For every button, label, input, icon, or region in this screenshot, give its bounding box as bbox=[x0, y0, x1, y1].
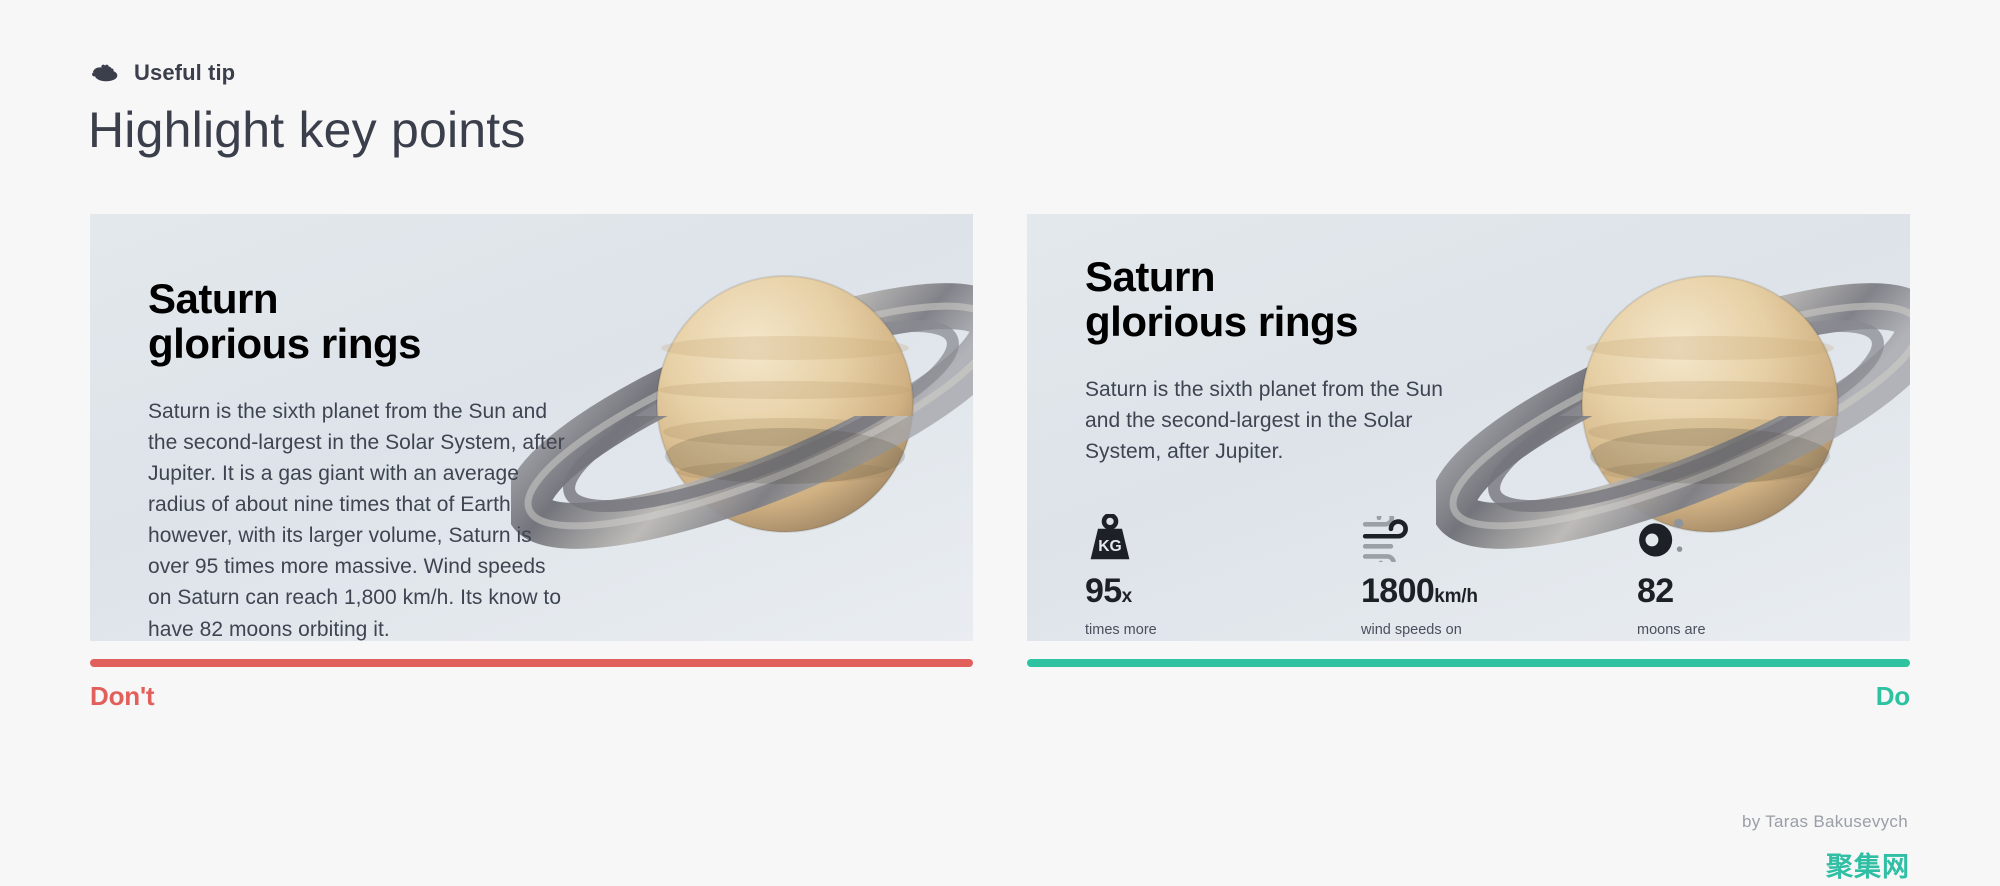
do-heading-line1: Saturn bbox=[1085, 253, 1215, 300]
saturn-illustration bbox=[511, 220, 973, 641]
svg-text:KG: KG bbox=[1098, 538, 1122, 555]
wind-icon bbox=[1361, 508, 1551, 562]
comparison-cards: Saturn glorious rings Saturn is the sixt… bbox=[90, 214, 1910, 712]
dont-verdict-label: Don't bbox=[90, 681, 973, 712]
stat-mass-unit: x bbox=[1122, 587, 1132, 606]
do-heading-line2: glorious rings bbox=[1085, 298, 1358, 345]
stat-mass-value-row: 95 x bbox=[1085, 574, 1275, 608]
stat-mass: KG 95 x times more massive than Earth. bbox=[1085, 508, 1275, 641]
stat-wind-value-row: 1800 km/h bbox=[1361, 574, 1551, 608]
stat-wind-value: 1800 bbox=[1361, 574, 1434, 608]
useful-tip-row: Useful tip bbox=[90, 60, 235, 86]
slide-root: Useful tip Highlight key points bbox=[0, 0, 2000, 886]
stat-moons-caption-line1: moons are bbox=[1637, 622, 1706, 638]
moon-orbit-icon bbox=[1637, 508, 1827, 562]
dont-column: Saturn glorious rings Saturn is the sixt… bbox=[90, 214, 973, 712]
weight-kg-icon: KG bbox=[1085, 508, 1275, 562]
stat-moons-caption: moons are orbiting Staturn bbox=[1637, 620, 1827, 641]
dont-underline-bar bbox=[90, 659, 973, 667]
stat-wind-caption-line1: wind speeds on bbox=[1361, 622, 1462, 638]
stats-row: KG 95 x times more massive than Earth. bbox=[1085, 508, 1827, 641]
do-column: Saturn glorious rings Saturn is the sixt… bbox=[1027, 214, 1910, 712]
do-underline-bar bbox=[1027, 659, 1910, 667]
do-verdict-label: Do bbox=[1027, 681, 1910, 712]
do-card-body: Saturn is the sixth planet from the Sun … bbox=[1085, 374, 1465, 467]
dont-card: Saturn glorious rings Saturn is the sixt… bbox=[90, 214, 973, 641]
dont-heading-line2: glorious rings bbox=[148, 320, 421, 367]
stat-mass-value: 95 bbox=[1085, 574, 1122, 608]
site-watermark: 聚集网 bbox=[1826, 845, 1910, 884]
pointing-hand-icon bbox=[90, 62, 120, 84]
stat-mass-caption: times more massive than Earth. bbox=[1085, 620, 1275, 641]
stat-moons: 82 moons are orbiting Staturn bbox=[1637, 508, 1827, 641]
do-card: Saturn glorious rings Saturn is the sixt… bbox=[1027, 214, 1910, 641]
dont-card-heading: Saturn glorious rings bbox=[148, 276, 421, 367]
stat-moons-value-row: 82 bbox=[1637, 574, 1827, 608]
dont-card-body: Saturn is the sixth planet from the Sun … bbox=[148, 396, 568, 641]
dont-heading-line1: Saturn bbox=[148, 275, 278, 322]
useful-tip-label: Useful tip bbox=[134, 60, 235, 86]
author-credit: by Taras Bakusevych bbox=[1742, 812, 1908, 832]
stat-wind: 1800 km/h wind speeds on Saturn can reac… bbox=[1361, 508, 1551, 641]
stat-wind-unit: km/h bbox=[1434, 587, 1478, 606]
do-card-heading: Saturn glorious rings bbox=[1085, 254, 1358, 345]
stat-mass-caption-line1: times more bbox=[1085, 622, 1157, 638]
stat-wind-caption: wind speeds on Saturn can reach bbox=[1361, 620, 1551, 641]
stat-moons-value: 82 bbox=[1637, 574, 1674, 608]
page-title: Highlight key points bbox=[88, 100, 526, 160]
